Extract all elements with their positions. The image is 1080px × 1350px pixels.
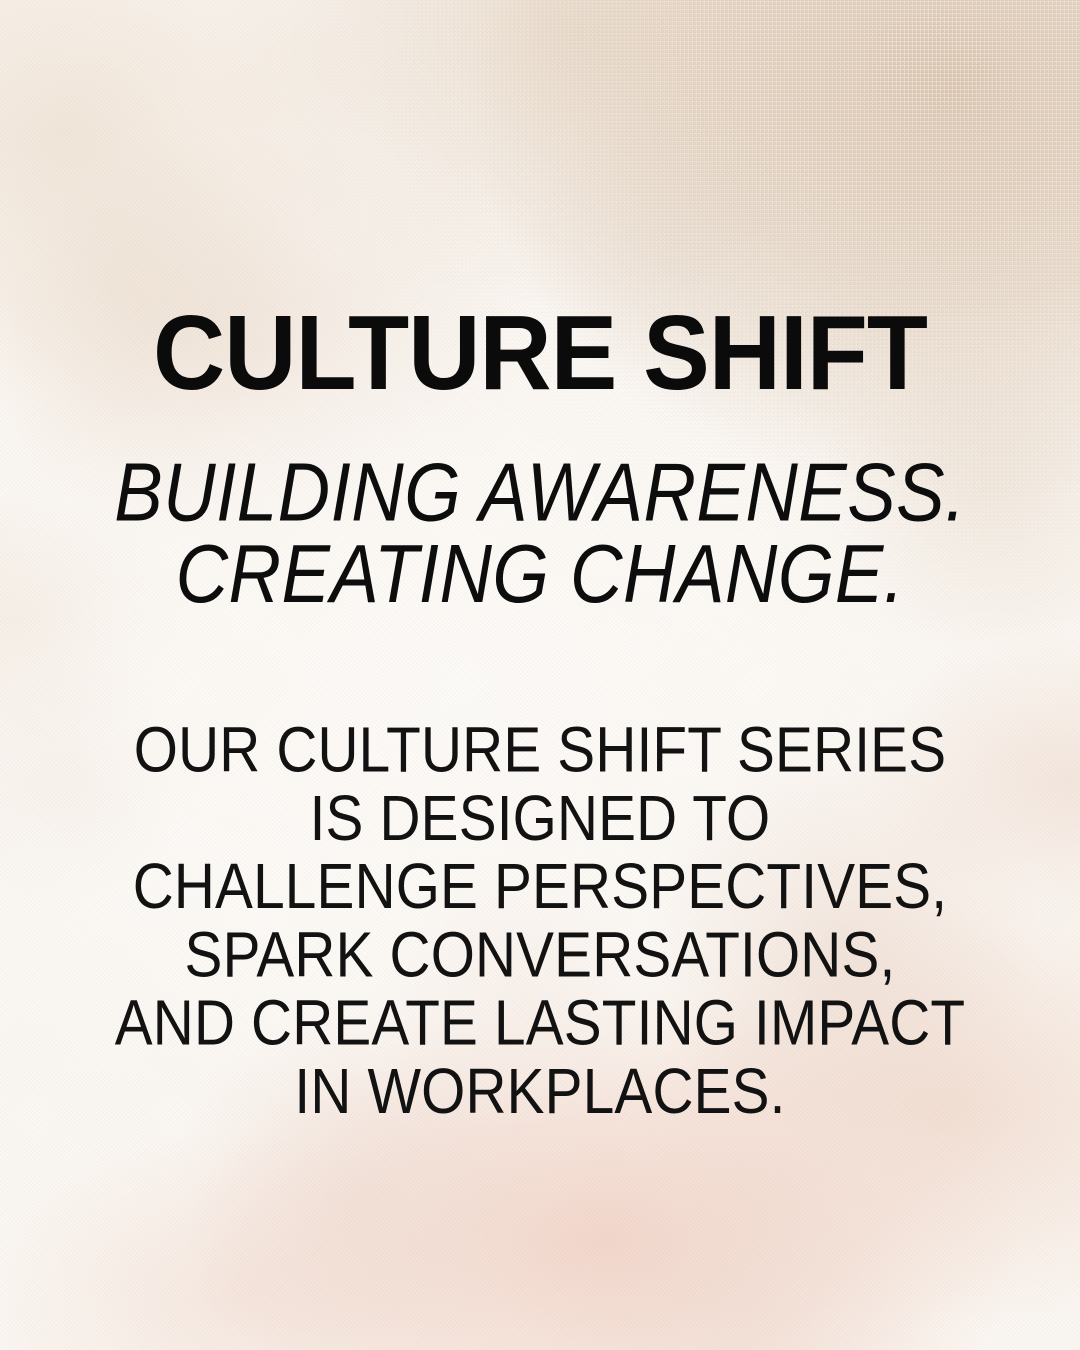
body-line-4: SPARK CONVERSATIONS, bbox=[38, 921, 1042, 989]
body-line-2: IS DESIGNED TO bbox=[38, 784, 1042, 852]
subtitle-line-1: BUILDING AWARENESS. bbox=[43, 452, 1037, 533]
body-line-5: AND CREATE LASTING IMPACT bbox=[38, 989, 1042, 1057]
body-line-3: CHALLENGE PERSPECTIVES, bbox=[38, 853, 1042, 921]
body-line-1: OUR CULTURE SHIFT SERIES bbox=[38, 716, 1042, 784]
poster-canvas: CULTURE SHIFT BUILDING AWARENESS. CREATI… bbox=[0, 0, 1080, 1350]
body-line-6: IN WORKPLACES. bbox=[38, 1057, 1042, 1125]
poster-content: CULTURE SHIFT BUILDING AWARENESS. CREATI… bbox=[0, 0, 1080, 1350]
poster-title: CULTURE SHIFT bbox=[0, 302, 1080, 404]
subtitle-line-2: CREATING CHANGE. bbox=[43, 533, 1037, 614]
poster-body-copy: OUR CULTURE SHIFT SERIES IS DESIGNED TO … bbox=[38, 716, 1042, 1126]
poster-subtitle: BUILDING AWARENESS. CREATING CHANGE. bbox=[43, 452, 1037, 614]
